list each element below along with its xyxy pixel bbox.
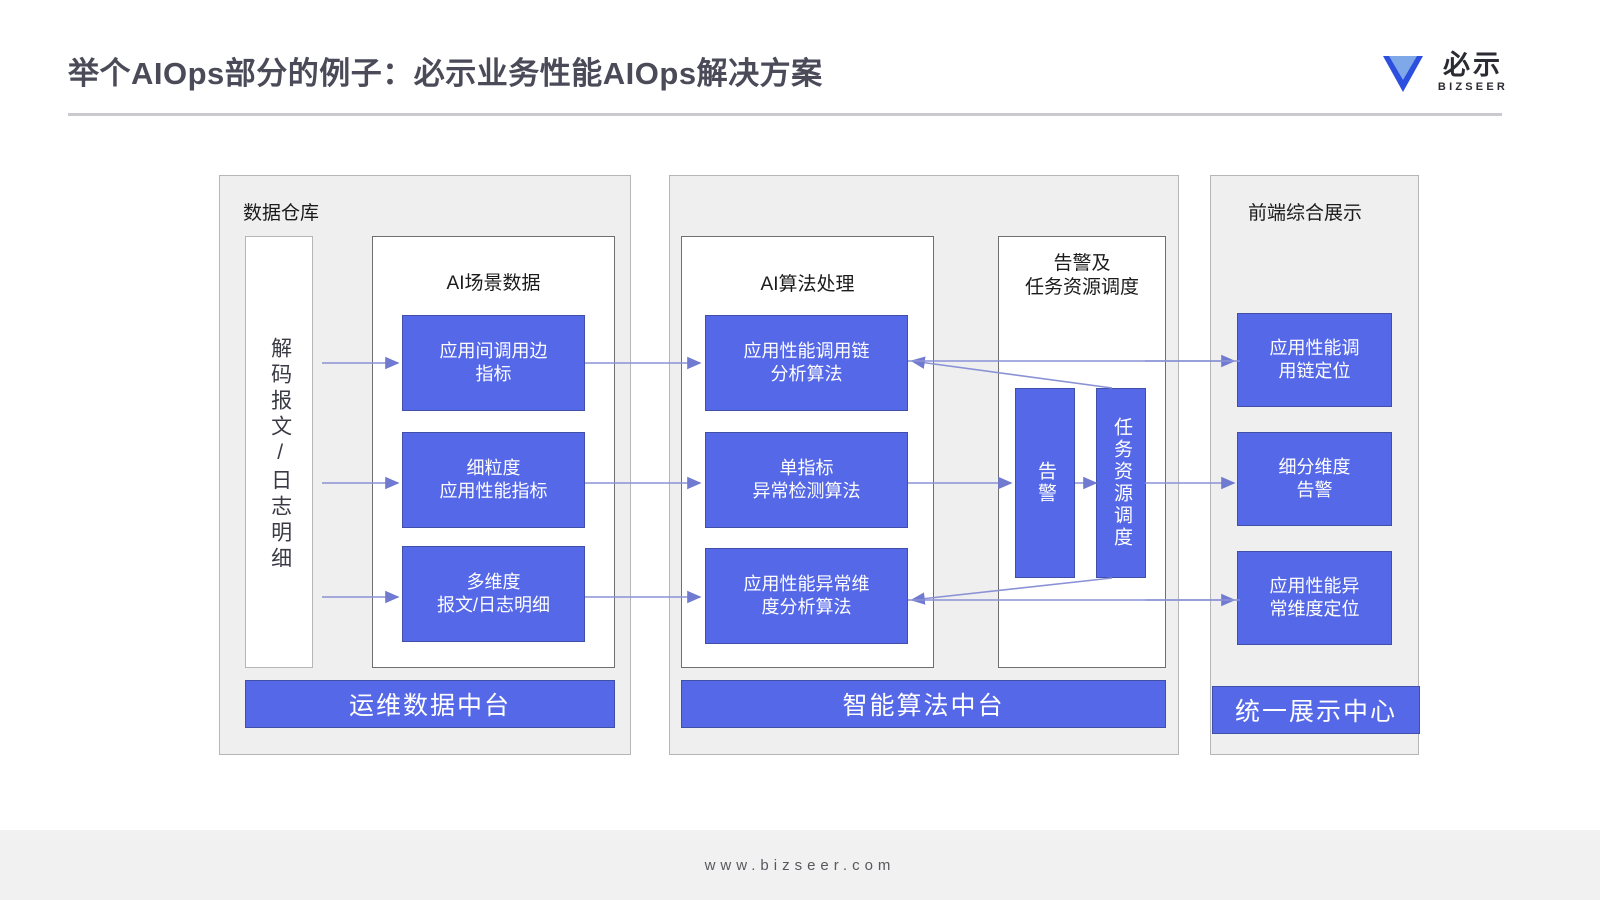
section-title-ai-scene-data: AI场景数据 [372, 272, 615, 296]
box-multi-dimension-log-detail[interactable]: 多维度 报文/日志明细 [402, 546, 585, 642]
box-fine-grained-app-perf-metrics[interactable]: 细粒度 应用性能指标 [402, 432, 585, 528]
footer-website-url: www.bizseer.com [705, 857, 896, 874]
box-label: 应用间调用边 指标 [440, 340, 548, 386]
box-label: 任务资源调度 [1111, 417, 1131, 549]
page-footer: www.bizseer.com [0, 830, 1600, 900]
box-app-perf-trace-locating[interactable]: 应用性能调 用链定位 [1237, 313, 1392, 407]
box-single-metric-anomaly-detection-algo[interactable]: 单指标 异常检测算法 [705, 432, 908, 528]
bottom-bar-smart-algorithm-platform[interactable]: 智能算法中台 [681, 680, 1166, 728]
box-label: 多维度 报文/日志明细 [437, 571, 550, 617]
box-app-perf-anomaly-dimension-locating[interactable]: 应用性能异 常维度定位 [1237, 551, 1392, 645]
section-title-ai-algorithm: AI算法处理 [681, 273, 934, 297]
box-app-perf-trace-analysis-algo[interactable]: 应用性能调用链 分析算法 [705, 315, 908, 411]
bottom-bar-unified-display-center[interactable]: 统一展示中心 [1212, 686, 1420, 734]
box-task-resource-scheduling[interactable]: 任务资源调度 [1096, 388, 1146, 578]
box-label: 应用性能异常维 度分析算法 [744, 573, 870, 619]
box-label: 应用性能调用链 分析算法 [744, 340, 870, 386]
architecture-diagram: 数据仓库 解码报文/日志明细 AI场景数据 应用间调用边 指标 细粒度 应用性能… [0, 0, 1600, 830]
section-title-alert-scheduling: 告警及 任务资源调度 [998, 252, 1166, 300]
box-inter-app-call-edge-metrics[interactable]: 应用间调用边 指标 [402, 315, 585, 411]
box-app-perf-anomaly-dimension-algo[interactable]: 应用性能异常维 度分析算法 [705, 548, 908, 644]
box-label: 应用性能异 常维度定位 [1270, 575, 1360, 621]
box-alert[interactable]: 告警 [1015, 388, 1075, 578]
panel-title-data-warehouse: 数据仓库 [243, 198, 319, 225]
box-label: 细分维度 告警 [1279, 456, 1351, 502]
box-label: 细粒度 应用性能指标 [440, 457, 548, 503]
box-label: 应用性能调 用链定位 [1270, 337, 1360, 383]
source-data-label: 解码报文/日志明细 [268, 310, 291, 600]
box-fine-dimension-alert[interactable]: 细分维度 告警 [1237, 432, 1392, 526]
box-label: 单指标 异常检测算法 [753, 457, 861, 503]
box-label: 告警 [1035, 461, 1055, 505]
bottom-bar-ops-data-platform[interactable]: 运维数据中台 [245, 680, 615, 728]
panel-title-frontend-display: 前端综合展示 [1248, 198, 1362, 225]
